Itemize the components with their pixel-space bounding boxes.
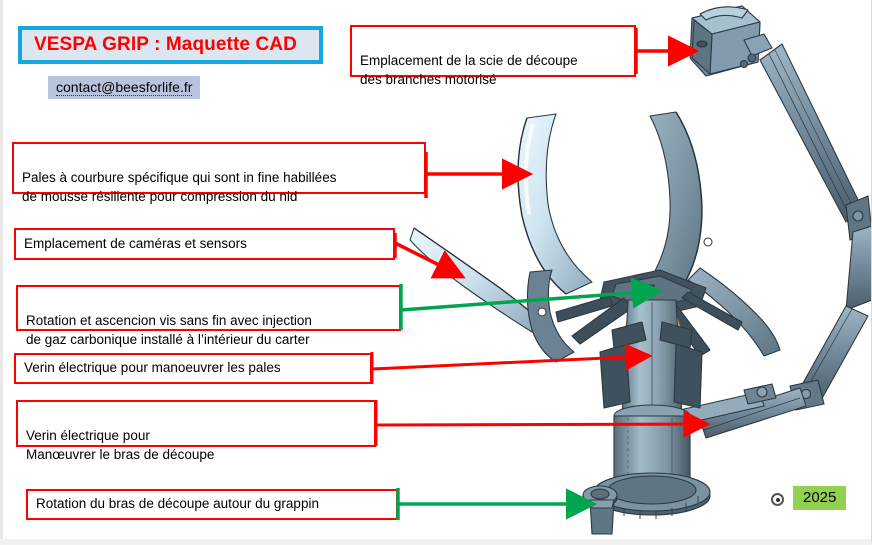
year-badge: 2025	[793, 486, 846, 510]
slide-title-box: VESPA GRIP : Maquette CAD	[18, 26, 323, 64]
callout-saw-location: Emplacement de la scie de découpe des br…	[350, 25, 636, 77]
callout-arm-rotation: Rotation du bras de découpe autour du gr…	[26, 489, 398, 520]
callout-cameras-sensors-text: Emplacement de caméras et sensors	[24, 234, 247, 254]
callout-screw-rotation-text: Rotation et ascencion vis sans fin avec …	[26, 313, 312, 348]
page-title: VESPA GRIP : Maquette CAD	[22, 34, 297, 56]
callout-arm-rotation-text: Rotation du bras de découpe autour du gr…	[36, 494, 319, 514]
slide-canvas: VESPA GRIP : Maquette CAD contact@beesfo…	[0, 0, 872, 545]
callout-cameras-sensors: Emplacement de caméras et sensors	[14, 228, 395, 260]
contact-email-box[interactable]: contact@beesforlife.fr	[48, 76, 200, 99]
callout-actuator-blades-text: Verin électrique pour manoeuvrer les pal…	[24, 358, 281, 378]
callout-blades-curvature-text: Pales à courbure spécifique qui sont in …	[22, 170, 336, 205]
callout-actuator-cutting-arm: Verin électrique pour Manœuvrer le bras …	[16, 400, 376, 447]
callout-blades-curvature: Pales à courbure spécifique qui sont in …	[12, 142, 426, 194]
contact-email: contact@beesforlife.fr	[56, 79, 192, 96]
target-icon	[771, 493, 784, 506]
callout-actuator-cutting-arm-text: Verin électrique pour Manœuvrer le bras …	[26, 428, 214, 463]
callout-screw-rotation: Rotation et ascencion vis sans fin avec …	[16, 285, 401, 331]
callout-actuator-blades: Verin électrique pour manoeuvrer les pal…	[14, 353, 372, 384]
